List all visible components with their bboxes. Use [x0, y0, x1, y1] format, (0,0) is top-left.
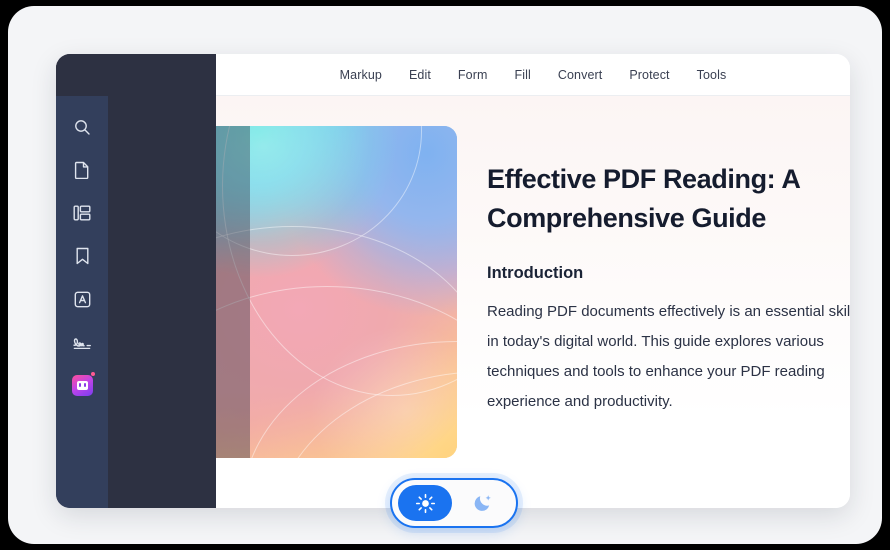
- menu-item-form[interactable]: Form: [458, 68, 488, 82]
- document-paragraph: Reading PDF documents effectively is an …: [487, 297, 850, 417]
- menu-item-tools[interactable]: Tools: [697, 68, 727, 82]
- moon-icon: [472, 492, 494, 514]
- document-cover-image: [216, 126, 457, 458]
- app-window: Markup Edit Form Fill Convert Protect To…: [56, 54, 850, 508]
- sidebar-icon-rail: [56, 96, 108, 508]
- theme-toggle-light-mode[interactable]: [398, 485, 452, 521]
- bookmark-icon[interactable]: [67, 241, 97, 271]
- menu-item-edit[interactable]: Edit: [409, 68, 431, 82]
- toolbar: Markup Edit Form Fill Convert Protect To…: [216, 54, 850, 96]
- menu-item-protect[interactable]: Protect: [629, 68, 669, 82]
- document-content: Effective PDF Reading: A Comprehensive G…: [216, 96, 850, 508]
- ai-robot-icon[interactable]: [67, 370, 97, 400]
- signature-icon[interactable]: [67, 327, 97, 357]
- sidebar-header: [56, 54, 216, 96]
- sidebar: [56, 54, 216, 508]
- search-icon[interactable]: [67, 112, 97, 142]
- outer-frame: Markup Edit Form Fill Convert Protect To…: [8, 6, 882, 544]
- document-title: Effective PDF Reading: A Comprehensive G…: [487, 160, 850, 237]
- document-heading: Introduction: [487, 264, 850, 283]
- cover-sidebar-overlap-tint: [216, 126, 250, 458]
- menu-item-markup[interactable]: Markup: [340, 68, 382, 82]
- document-icon[interactable]: [67, 155, 97, 185]
- ai-robot-glyph: [72, 375, 93, 396]
- sun-icon: [415, 493, 436, 514]
- document-text-block: Effective PDF Reading: A Comprehensive G…: [487, 160, 850, 417]
- menu-item-convert[interactable]: Convert: [558, 68, 602, 82]
- menu-item-fill[interactable]: Fill: [514, 68, 530, 82]
- theme-toggle[interactable]: [390, 478, 518, 528]
- theme-toggle-dark-mode[interactable]: [456, 485, 510, 521]
- ocr-icon[interactable]: [67, 284, 97, 314]
- outline-icon[interactable]: [67, 198, 97, 228]
